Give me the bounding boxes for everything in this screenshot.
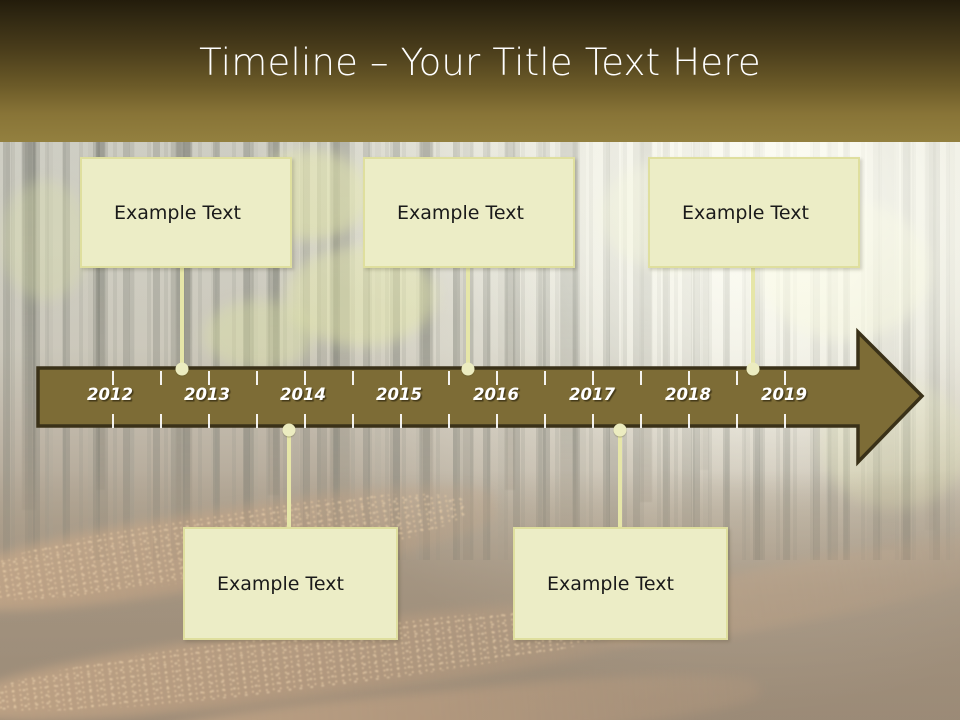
timeline-tick xyxy=(448,371,450,385)
timeline-tick xyxy=(592,414,594,428)
timeline-tick xyxy=(160,371,162,385)
slide-canvas: Timeline – Your Title Text Here 20122013… xyxy=(0,0,960,720)
timeline-tick xyxy=(448,414,450,428)
callout-box-below[interactable]: Example Text xyxy=(183,527,398,640)
timeline-tick xyxy=(352,414,354,428)
title-banner: Timeline – Your Title Text Here xyxy=(0,0,960,142)
timeline-tick xyxy=(208,414,210,428)
callout-text: Example Text xyxy=(397,202,524,224)
timeline-year-2017[interactable]: 2017 xyxy=(569,385,615,404)
callout-connector-stem xyxy=(180,268,184,369)
timeline-tick xyxy=(688,371,690,385)
timeline-tick xyxy=(544,414,546,428)
timeline-tick xyxy=(160,414,162,428)
timeline-tick xyxy=(736,414,738,428)
callout-connector-stem xyxy=(466,268,470,369)
callout-connector-stem xyxy=(751,268,755,369)
timeline-tick xyxy=(784,414,786,428)
timeline-tick xyxy=(304,371,306,385)
timeline-tick xyxy=(352,371,354,385)
callout-connector-stem xyxy=(287,430,291,527)
callout-text: Example Text xyxy=(682,202,809,224)
callout-box-above[interactable]: Example Text xyxy=(648,157,860,268)
timeline-year-2012[interactable]: 2012 xyxy=(87,385,133,404)
timeline-tick xyxy=(544,371,546,385)
timeline-year-2013[interactable]: 2013 xyxy=(184,385,230,404)
timeline-tick xyxy=(736,371,738,385)
callout-box-below[interactable]: Example Text xyxy=(513,527,728,640)
timeline-tick xyxy=(208,371,210,385)
timeline-tick xyxy=(400,371,402,385)
callout-connector-dot xyxy=(614,424,627,437)
timeline-tick xyxy=(304,414,306,428)
timeline-tick xyxy=(784,371,786,385)
callout-text: Example Text xyxy=(547,573,674,595)
callout-text: Example Text xyxy=(114,202,241,224)
timeline-year-2016[interactable]: 2016 xyxy=(473,385,519,404)
callout-connector-stem xyxy=(618,430,622,527)
timeline-tick xyxy=(592,371,594,385)
timeline-year-2015[interactable]: 2015 xyxy=(376,385,422,404)
callout-box-above[interactable]: Example Text xyxy=(80,157,292,268)
timeline-tick xyxy=(640,414,642,428)
timeline-year-2014[interactable]: 2014 xyxy=(280,385,326,404)
page-title: Timeline – Your Title Text Here xyxy=(0,41,960,84)
callout-connector-dot xyxy=(176,363,189,376)
timeline-tick xyxy=(112,414,114,428)
timeline-year-2018[interactable]: 2018 xyxy=(665,385,711,404)
callout-box-above[interactable]: Example Text xyxy=(363,157,575,268)
callout-connector-dot xyxy=(462,363,475,376)
timeline-tick xyxy=(496,371,498,385)
timeline-year-2019[interactable]: 2019 xyxy=(761,385,807,404)
timeline-tick xyxy=(256,371,258,385)
timeline-tick xyxy=(496,414,498,428)
callout-connector-dot xyxy=(747,363,760,376)
timeline-tick xyxy=(640,371,642,385)
timeline-tick xyxy=(688,414,690,428)
timeline-tick xyxy=(112,371,114,385)
timeline-tick xyxy=(400,414,402,428)
callout-text: Example Text xyxy=(217,573,344,595)
timeline-tick xyxy=(256,414,258,428)
callout-connector-dot xyxy=(283,424,296,437)
